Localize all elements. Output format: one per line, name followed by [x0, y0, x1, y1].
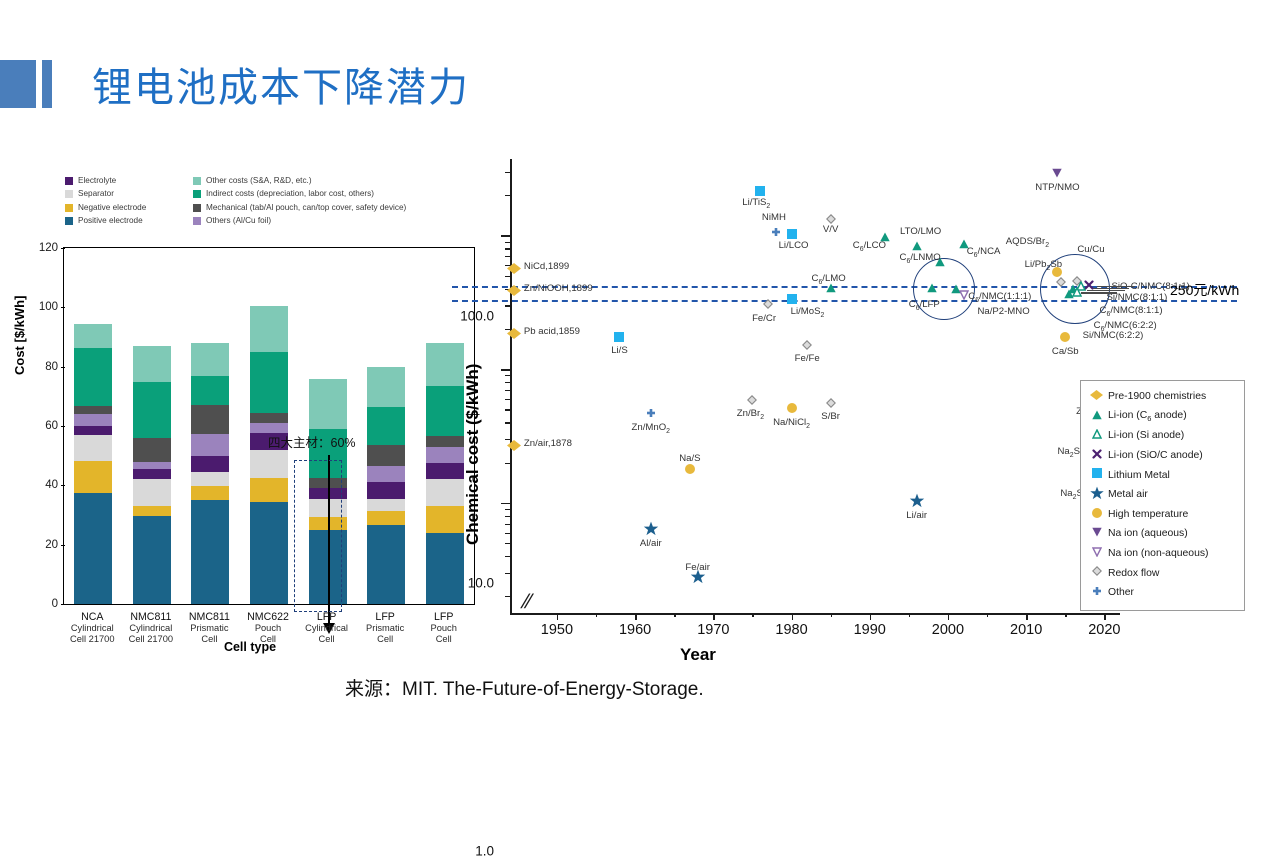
legend-swatch-electrolyte: [65, 177, 73, 185]
leader-line-3: [1087, 290, 1125, 291]
scatter-legend-item[interactable]: Pre-1900 chemistries: [1088, 387, 1237, 407]
scatter-point-label: Si/NMC(8:1:1): [1107, 292, 1168, 303]
bar-segment: [74, 435, 112, 461]
scatter-y-minor-tick: [505, 390, 511, 391]
scatter-x-tick: [1026, 613, 1027, 620]
cny-cost-note: 250元/kWh: [1170, 280, 1239, 300]
scatter-point-label: Pb acid,1859: [524, 326, 580, 337]
bar-chart-plot-area: 020406080100120: [63, 247, 475, 605]
scatter-point-label: Zn/NiOOH,1899: [524, 283, 593, 294]
legend-swatch-negative-electrode: [65, 204, 73, 212]
scatter-point-label: Zn/Br2: [737, 408, 764, 421]
bar-series-container: [64, 248, 474, 604]
scatter-y-minor-tick: [505, 305, 511, 306]
legend-item-negative-electrode: Negative electrode: [65, 201, 146, 215]
scatter-point-label: S/Br: [821, 411, 840, 422]
scatter-point[interactable]: [927, 280, 937, 298]
scatter-legend-label: Lithium Metal: [1108, 470, 1170, 481]
scatter-legend-label: Li-ion (C6 anode): [1108, 410, 1187, 423]
legend-swatch-mechanical: [193, 204, 201, 212]
legend-marker-icon: [1088, 547, 1105, 560]
scatter-x-tick-label: 1980: [775, 622, 807, 638]
bar-segment: [367, 466, 405, 482]
bar-segment: [191, 486, 229, 500]
scatter-y-minor-tick: [505, 256, 511, 257]
scatter-y-minor-tick: [505, 556, 511, 557]
bar-segment: [74, 348, 112, 406]
bar-segment: [250, 450, 288, 478]
scatter-x-tick: [713, 613, 714, 620]
scatter-x-minor-tick: [987, 613, 988, 617]
bar-segment: [367, 407, 405, 446]
legend-item-mechanical: Mechanical (tab/Al pouch, can/top cover,…: [193, 201, 406, 215]
legend-label: Others (Al/Cu foil): [206, 217, 271, 225]
scatter-point-label: Cu/Cu: [1077, 244, 1104, 255]
bar-segment: [250, 413, 288, 423]
scatter-y-minor-tick: [505, 195, 511, 196]
accent-block: [0, 60, 36, 108]
scatter-y-minor-tick: [505, 596, 511, 597]
bar-segment: [367, 445, 405, 466]
legend-item-others-foil: Others (Al/Cu foil): [193, 215, 406, 229]
scatter-point[interactable]: [771, 224, 781, 242]
bar-segment: [191, 405, 229, 435]
source-citation: 来源：MIT. The-Future-of-Energy-Storage.: [345, 674, 704, 701]
legend-item-separator: Separator: [65, 188, 146, 202]
bar-segment: [309, 379, 347, 429]
scatter-legend-label: Na ion (non-aqueous): [1108, 548, 1209, 559]
legend-marker-icon: [1088, 508, 1105, 521]
scatter-legend-label: Na ion (aqueous): [1108, 528, 1188, 539]
bar-segment: [74, 406, 112, 415]
scatter-point-label: C6/LNMO: [900, 252, 941, 265]
legend-label: Electrolyte: [78, 177, 116, 185]
scatter-point-label: C6/LMO: [812, 273, 846, 286]
bar-segment: [250, 352, 288, 413]
bar-segment: [74, 461, 112, 493]
scatter-x-tick-label: 2020: [1088, 622, 1120, 638]
scatter-point[interactable]: [507, 261, 521, 279]
scatter-point-label: C6/NMC(8:1:1): [1100, 305, 1163, 318]
scatter-point[interactable]: [646, 405, 656, 423]
scatter-point-label: Li/Pb2Sb: [1025, 259, 1062, 272]
scatter-point-label: Na/P2-MNO: [977, 306, 1029, 317]
bar-segment: [367, 482, 405, 498]
page-title: 锂电池成本下降潜力: [92, 55, 470, 113]
scatter-y-minor-tick: [505, 516, 511, 517]
bar-y-tick: 100: [39, 301, 58, 313]
axis-break-icon: //: [518, 591, 533, 614]
bar-segment: [74, 324, 112, 348]
bar-chart-x-axis-label: Cell type: [10, 640, 490, 654]
legend-label: Other costs (S&A, R&D, etc.): [206, 177, 312, 185]
bar-segment: [250, 502, 288, 604]
scatter-point-label: Si/NMC(6:2:2): [1083, 330, 1144, 341]
bar-segment: [191, 434, 229, 456]
legend-swatch-others-foil: [193, 217, 201, 225]
legend-item-other-costs: Other costs (S&A, R&D, etc.): [193, 174, 406, 188]
scatter-y-tick: 100.0: [501, 235, 510, 236]
bar-segment: [133, 516, 171, 604]
legend-label: Mechanical (tab/Al pouch, can/top cover,…: [206, 204, 406, 212]
scatter-point-label: Al/air: [640, 538, 662, 549]
scatter-legend-item[interactable]: High temperature: [1088, 505, 1237, 525]
bar-column[interactable]: [250, 306, 288, 604]
bar-segment: [74, 414, 112, 425]
legend-swatch-other-costs: [193, 177, 201, 185]
scatter-point[interactable]: [507, 326, 521, 344]
bar-segment: [191, 376, 229, 405]
legend-marker-icon: [1088, 486, 1105, 503]
leader-line-1: [1097, 286, 1135, 287]
legend-swatch-separator: [65, 190, 73, 198]
scatter-point-label: Li/air: [906, 510, 927, 521]
bar-y-tick: 80: [45, 361, 58, 373]
scatter-y-minor-tick: [505, 399, 511, 400]
scatter-point-label: Li/MoS2: [791, 306, 825, 319]
bar-segment: [133, 469, 171, 479]
scatter-point-label: Zn/MnO2: [632, 422, 671, 435]
scatter-legend-label: Li-ion (Si anode): [1108, 430, 1184, 441]
bar-segment: [133, 506, 171, 516]
scatter-x-tick: [948, 613, 949, 620]
bar-column[interactable]: [191, 343, 229, 604]
legend-marker-icon: [1088, 527, 1105, 540]
scatter-x-tick: [557, 613, 558, 620]
scatter-point-label: C6/NCA: [967, 246, 1001, 259]
legend-label: Negative electrode: [78, 204, 146, 212]
scatter-point[interactable]: [507, 283, 521, 301]
legend-marker-icon: [1088, 449, 1105, 462]
scatter-point-label: Na/S: [679, 453, 700, 464]
scatter-point-label: V/V: [823, 224, 838, 235]
scatter-legend-item[interactable]: Other: [1088, 583, 1237, 603]
scatter-point-label: Li/S: [611, 345, 628, 356]
legend-swatch-positive-electrode: [65, 217, 73, 225]
scatter-x-minor-tick: [674, 613, 675, 617]
legend-marker-icon: [1088, 410, 1105, 423]
scatter-point-label: C6/LFP: [909, 299, 940, 312]
scatter-point-label: Fe/Cr: [752, 313, 776, 324]
bar-y-tick: 20: [45, 539, 58, 551]
scatter-point-label: LTO/LMO: [900, 226, 941, 237]
scatter-legend-label: High temperature: [1108, 509, 1188, 520]
legend-label: Positive electrode: [78, 217, 143, 225]
bar-y-tick: 120: [39, 242, 58, 254]
scatter-point-label: AQDS/Br2: [1006, 236, 1049, 249]
scatter-legend-label: Metal air: [1108, 489, 1148, 500]
scatter-x-minor-tick: [1065, 613, 1066, 617]
scatter-point[interactable]: [507, 438, 521, 456]
bar-y-tick: 0: [52, 598, 58, 610]
scatter-point[interactable]: [959, 287, 969, 305]
legend-swatch-indirect-costs: [193, 190, 201, 198]
scatter-legend-item[interactable]: Li-ion (SiO/C anode): [1088, 446, 1237, 466]
scatter-point-label: NTP/NMO: [1035, 182, 1079, 193]
scatter-y-tick-label: 10.0: [468, 576, 494, 591]
scatter-legend-label: Pre-1900 chemistries: [1108, 391, 1206, 402]
bar-segment: [191, 472, 229, 486]
scatter-y-minor-tick: [505, 573, 511, 574]
scatter-y-tick-label: 1.0: [475, 843, 494, 858]
legend-item-indirect-costs: Indirect costs (depreciation, labor cost…: [193, 188, 406, 202]
scatter-point-label: Fe/Fe: [795, 353, 820, 364]
bar-chart-annotation: 四大主材：60%: [268, 432, 356, 451]
scatter-legend-label: Other: [1108, 587, 1134, 598]
bar-column[interactable]: [74, 324, 112, 604]
bar-segment: [191, 500, 229, 604]
slide-title-bar: 锂电池成本下降潜力: [0, 55, 470, 113]
bar-segment: [74, 426, 112, 435]
scatter-legend-item[interactable]: Metal air: [1088, 485, 1237, 505]
bar-segment: [250, 306, 288, 352]
scatter-x-axis-label: Year: [680, 645, 716, 665]
scatter-y-minor-tick: [505, 509, 511, 510]
scatter-point-label: C6/LCO: [853, 240, 886, 253]
bar-segment: [133, 438, 171, 462]
bar-segment: [250, 478, 288, 502]
scatter-y-minor-tick: [505, 463, 511, 464]
leader-line-4: [1081, 292, 1117, 293]
bar-column[interactable]: [367, 367, 405, 604]
scatter-chemical-cost-chart: Chemical cost ($/kWh) 1.010.0100.0195019…: [455, 155, 1280, 675]
scatter-x-minor-tick: [831, 613, 832, 617]
scatter-point[interactable]: [763, 296, 773, 314]
scatter-legend-item[interactable]: Na ion (non-aqueous): [1088, 544, 1237, 564]
scatter-point-label: NiCd,1899: [524, 261, 569, 272]
legend-label: Separator: [78, 190, 114, 198]
scatter-x-tick-label: 1970: [697, 622, 729, 638]
legend-marker-icon: [1088, 390, 1105, 403]
scatter-point-label: C6/NMC(1:1:1): [968, 291, 1031, 304]
scatter-x-tick: [1104, 613, 1105, 620]
scatter-y-minor-tick: [505, 422, 511, 423]
scatter-point-label: Li/LCO: [779, 240, 809, 251]
scatter-x-tick: [792, 613, 793, 620]
legend-label: Indirect costs (depreciation, labor cost…: [206, 190, 374, 198]
lfp-highlight-box: [294, 460, 342, 612]
scatter-y-axis-label: Chemical cost ($/kWh): [463, 364, 483, 545]
scatter-legend-item[interactable]: Li-ion (C6 anode): [1088, 407, 1237, 427]
scatter-y-tick: 10.0: [501, 369, 510, 370]
bar-y-tick: 40: [45, 479, 58, 491]
scatter-legend-item[interactable]: Li-ion (Si anode): [1088, 426, 1237, 446]
bar-segment: [133, 462, 171, 469]
scatter-x-tick-label: 1950: [541, 622, 573, 638]
bar-chart-y-axis-label: Cost [$/kWh]: [12, 296, 27, 375]
scatter-point[interactable]: [787, 400, 797, 418]
scatter-x-tick-label: 1990: [854, 622, 886, 638]
scatter-point-label: Zn/air,1878: [524, 438, 572, 449]
legend-item-electrolyte: Electrolyte: [65, 174, 146, 188]
scatter-point-label: Na/NiCl2: [773, 417, 810, 430]
scatter-x-tick-label: 1960: [619, 622, 651, 638]
scatter-x-tick-label: 2000: [932, 622, 964, 638]
accent-bar: [42, 60, 52, 108]
scatter-y-minor-tick: [505, 248, 511, 249]
scatter-y-tick-label: 100.0: [460, 308, 494, 323]
scatter-legend-item[interactable]: Lithium Metal: [1088, 465, 1237, 485]
scatter-point[interactable]: [1060, 329, 1070, 347]
bar-segment: [133, 382, 171, 438]
scatter-point-label: Ca/Sb: [1052, 346, 1079, 357]
scatter-x-minor-tick: [909, 613, 910, 617]
scatter-x-tick-label: 2010: [1010, 622, 1042, 638]
bar-segment: [74, 493, 112, 604]
bar-y-tick: 60: [45, 420, 58, 432]
scatter-x-tick: [870, 613, 871, 620]
legend-marker-icon: [1088, 566, 1105, 579]
scatter-x-minor-tick: [596, 613, 597, 617]
bar-segment: [133, 479, 171, 506]
bar-segment: [367, 499, 405, 511]
scatter-y-minor-tick: [505, 409, 511, 410]
scatter-x-minor-tick: [752, 613, 753, 617]
scatter-point-label: NiMH: [762, 212, 786, 223]
scatter-y-minor-tick: [505, 375, 511, 376]
scatter-legend: Pre-1900 chemistriesLi-ion (C6 anode)Li-…: [1080, 380, 1245, 611]
scatter-plot-area: 1.010.0100.01950196019701980199020002010…: [510, 155, 1120, 615]
bar-segment: [133, 346, 171, 382]
scatter-legend-item[interactable]: Na ion (aqueous): [1088, 524, 1237, 544]
scatter-y-minor-tick: [505, 543, 511, 544]
bar-cost-chart: Electrolyte Separator Negative electrode…: [10, 160, 490, 670]
scatter-point-label: Fe/air: [685, 562, 710, 573]
legend-marker-icon: [1088, 429, 1105, 442]
leader-line-2: [1093, 288, 1129, 289]
scatter-point-label: Li/TiS2: [742, 197, 770, 210]
scatter-y-minor-tick: [505, 172, 511, 173]
bar-segment: [367, 367, 405, 407]
legend-item-positive-electrode: Positive electrode: [65, 215, 146, 229]
legend-marker-icon: [1088, 468, 1105, 481]
legend-marker-icon: [1088, 586, 1105, 599]
bar-segment: [191, 343, 229, 376]
scatter-x-tick: [635, 613, 636, 620]
bar-segment: [191, 456, 229, 471]
scatter-point[interactable]: [1052, 165, 1062, 183]
bar-segment: [367, 511, 405, 526]
scatter-y-minor-tick: [505, 382, 511, 383]
scatter-y-minor-tick: [505, 533, 511, 534]
scatter-y-minor-tick: [505, 524, 511, 525]
scatter-y-tick: 1.0: [501, 503, 510, 504]
bar-column[interactable]: [133, 346, 171, 604]
scatter-legend-label: Li-ion (SiO/C anode): [1108, 450, 1203, 461]
scatter-y-minor-tick: [505, 242, 511, 243]
scatter-legend-label: Redox flow: [1108, 568, 1159, 579]
scatter-legend-item[interactable]: Redox flow: [1088, 563, 1237, 583]
bar-segment: [367, 525, 405, 604]
